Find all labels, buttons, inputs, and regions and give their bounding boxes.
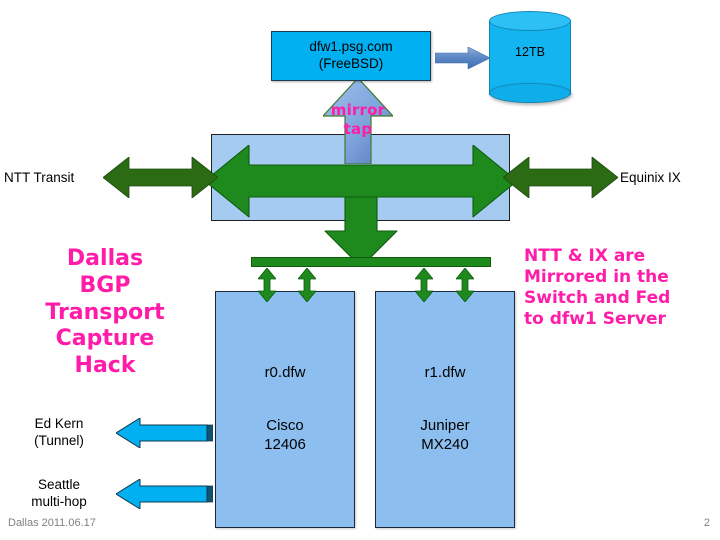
router-r1-vendor: Juniper xyxy=(420,417,469,436)
green-bus-bar xyxy=(251,257,491,267)
router-link-arrow-1 xyxy=(258,268,276,302)
seattle-tunnel-arrow xyxy=(116,479,213,509)
equinix-ix-arrow xyxy=(503,157,618,198)
storage-cylinder: 12TB xyxy=(489,11,571,102)
router-box-r1[interactable]: r1.dfw Juniper MX240 xyxy=(375,291,515,528)
router-r1-model: Juniper MX240 xyxy=(420,417,469,455)
router-r1-name: r1.dfw xyxy=(425,364,466,383)
headline-right-line3: Switch and Fed xyxy=(524,288,670,309)
headline-left-line1: Dallas xyxy=(67,246,143,273)
headline-left-line3: Transport xyxy=(45,300,164,327)
seattle-label: Seattle multi-hop xyxy=(6,474,112,514)
server-to-storage-arrow xyxy=(435,47,490,69)
equinix-ix-label: Equinix IX xyxy=(620,167,720,189)
headline-right-line4: to dfw1 Server xyxy=(524,309,666,330)
ntt-transit-arrow xyxy=(103,157,218,198)
headline-right: NTT & IX are Mirrored in the Switch and … xyxy=(524,228,720,348)
mirror-tap-arrow xyxy=(323,78,393,164)
headline-left-line4: Capture xyxy=(56,326,155,353)
server-box[interactable]: dfw1.psg.com (FreeBSD) xyxy=(271,31,431,81)
ed-kern-label: Ed Kern (Tunnel) xyxy=(6,413,112,453)
cylinder-bottom-ellipse xyxy=(489,83,571,103)
router-r0-name: r0.dfw xyxy=(265,364,306,383)
router-r1-model-number: MX240 xyxy=(420,436,469,455)
slide-canvas: 12TB dfw1.psg.com (FreeBSD) xyxy=(0,0,720,540)
headline-right-line1: NTT & IX are xyxy=(524,246,645,267)
headline-left-line5: Hack xyxy=(75,353,136,380)
storage-capacity-label: 12TB xyxy=(489,43,571,63)
headline-right-line2: Mirrored in the xyxy=(524,267,669,288)
headline-left: Dallas BGP Transport Capture Hack xyxy=(10,228,200,398)
ed-kern-line1: Ed Kern xyxy=(35,416,84,433)
footer-date: Dallas 2011.06.17 xyxy=(8,515,228,533)
slide-number: 2 xyxy=(680,515,710,533)
router-r0-model-number: 12406 xyxy=(264,436,306,455)
router-link-arrow-4 xyxy=(456,268,474,302)
cylinder-top-ellipse xyxy=(489,11,571,31)
router-link-arrow-3 xyxy=(415,268,433,302)
seattle-line1: Seattle xyxy=(38,477,80,494)
router-box-r0[interactable]: r0.dfw Cisco 12406 xyxy=(215,291,355,528)
router-r0-model: Cisco 12406 xyxy=(264,417,306,455)
ed-kern-line2: (Tunnel) xyxy=(34,433,84,450)
server-hostname: dfw1.psg.com xyxy=(309,39,392,56)
seattle-line2: multi-hop xyxy=(31,494,87,511)
router-r0-vendor: Cisco xyxy=(264,417,306,436)
ed-kern-tunnel-arrow xyxy=(116,418,213,448)
router-link-arrow-2 xyxy=(298,268,316,302)
headline-left-line2: BGP xyxy=(80,273,131,300)
ntt-transit-label: NTT Transit xyxy=(4,167,102,189)
server-os: (FreeBSD) xyxy=(319,56,384,73)
